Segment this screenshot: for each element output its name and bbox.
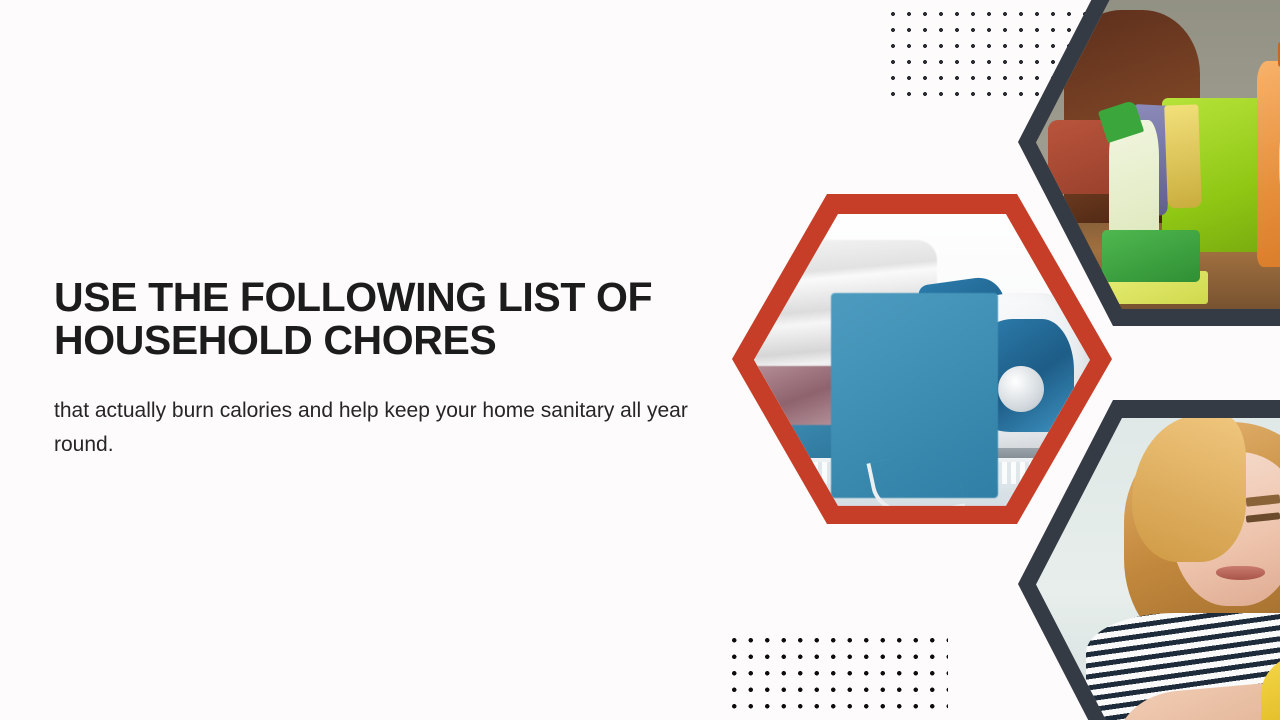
hexagon-ironing [732,194,1112,524]
slide-canvas: USE THE FOLLOWING LIST OF HOUSEHOLD CHOR… [0,0,1280,720]
text-block: USE THE FOLLOWING LIST OF HOUSEHOLD CHOR… [54,276,734,462]
page-title: USE THE FOLLOWING LIST OF HOUSEHOLD CHOR… [54,276,734,362]
page-subtitle: that actually burn calories and help kee… [54,394,714,462]
dot-grid-bottom-icon [724,630,948,720]
image-ironing [732,194,1112,524]
